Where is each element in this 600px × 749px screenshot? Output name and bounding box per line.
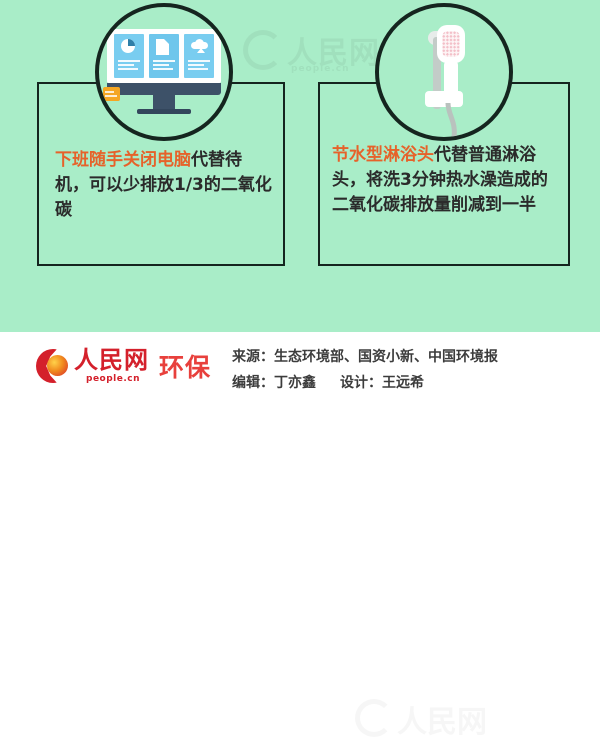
logo-sub-text: people.cn [86,374,149,384]
cloud-upload-icon [191,39,207,55]
watermark-text: 人民网 [287,28,380,72]
monitor-stand-neck [153,95,175,109]
shower-head-nozzle-face [442,31,460,57]
peoplecn-logo[interactable]: 人民网 people.cn 环保 [36,346,211,386]
watermark-logo-bottom: 人民网 [355,687,515,749]
monitor-screen [107,29,221,83]
screen-card-chart [114,34,144,78]
pie-chart-icon [121,39,137,55]
info-card-computer-text: 下班随手关闭电脑代替待机，可以少排放1/3的二氧化碳 [55,148,273,223]
watermark-logo-top: 人民网 people.cn [243,14,363,84]
watermark-ring-icon [243,30,283,70]
illustration-circle-shower [375,3,513,141]
screen-card-document [149,34,179,78]
logo-main-text: 人民网 [74,348,149,373]
circle-clip-shower [379,7,509,137]
screen-card-row [114,34,214,78]
circle-clip-computer [99,7,229,137]
monitor-bezel [107,83,221,95]
screen-card-cloud [184,34,214,78]
shower-head-icon [379,7,509,137]
shower-hose [434,103,464,137]
info-card-shower-text: 节水型淋浴头代替普通淋浴头，将洗3分钟热水澡造成的二氧化碳排放量削减到一半 [332,143,560,218]
highlight-phrase-shower: 节水型淋浴头 [332,145,434,165]
watermark-ring-icon-bottom [355,699,393,737]
editor-label: 编辑：丁亦鑫 [232,375,316,391]
monitor-stand-base [137,109,191,114]
desktop-monitor-icon [107,29,221,117]
mint-content-panel: 人民网 people.cn [0,0,600,332]
folder-icon [103,87,120,101]
editor-designer-line: 编辑：丁亦鑫设计：王远希 [232,370,498,396]
document-icon [156,39,172,55]
illustration-circle-computer [95,3,233,141]
source-line: 来源：生态环境部、国资小新、中国环境报 [232,344,498,370]
peoplecn-globe-icon [36,349,70,383]
footer-bar: 人民网 人民网 people.cn 环保 来源：生态环境部、国资小新、中国环境报… [0,332,600,420]
peoplecn-wordmark: 人民网 people.cn [74,348,149,384]
highlight-phrase-computer: 下班随手关闭电脑 [55,150,191,170]
watermark-text-bottom: 人民网 [397,697,487,741]
designer-label: 设计：王远希 [340,375,424,391]
infographic-page: 人民网 people.cn [0,0,600,420]
credits-block: 来源：生态环境部、国资小新、中国环境报 编辑：丁亦鑫设计：王远希 [232,344,498,396]
logo-channel-tag: 环保 [159,348,211,384]
watermark-subtext: people.cn [291,64,350,74]
